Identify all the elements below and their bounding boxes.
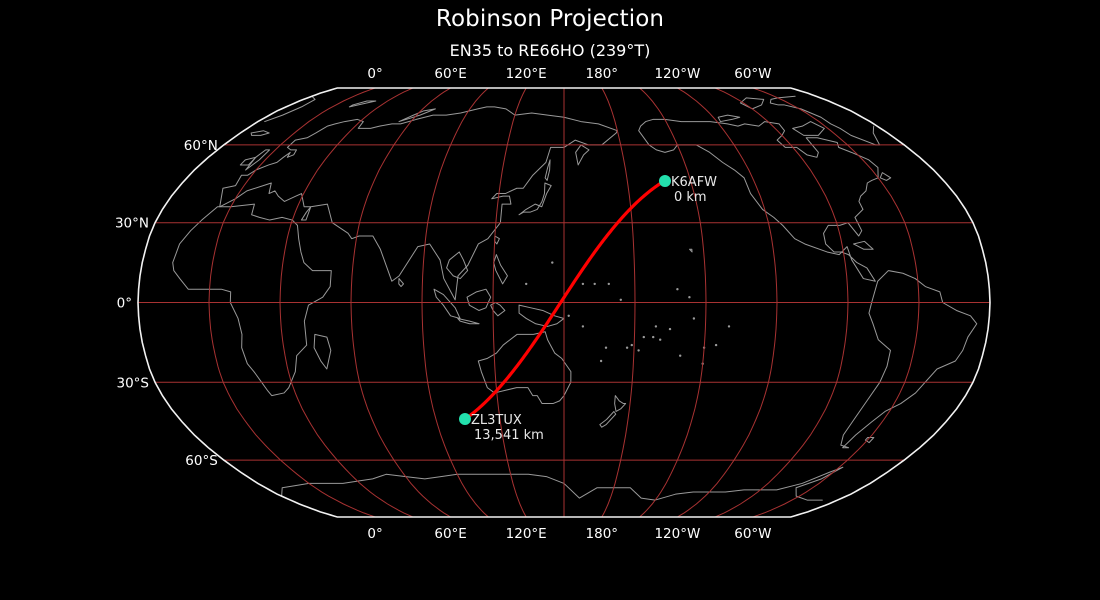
longitude-label-bottom: 120°W: [654, 526, 700, 542]
coastline-segment: [447, 252, 468, 279]
island-dot: [659, 339, 661, 341]
latitude-label: 30°S: [117, 375, 150, 391]
latitude-label: 30°N: [115, 216, 149, 232]
island-dot: [525, 283, 527, 285]
coastline-segment: [478, 332, 571, 404]
island-dot: [582, 325, 584, 327]
endpoint-dot[interactable]: [659, 175, 671, 187]
coastline-segment: [615, 396, 626, 412]
island-dot: [582, 283, 584, 285]
coastline-segment: [458, 318, 479, 323]
longitude-label-top: 180°: [586, 66, 619, 82]
coastline-segment: [718, 115, 740, 121]
island-dot: [600, 360, 602, 362]
island-dot: [652, 336, 654, 338]
longitude-label-top: 120°W: [654, 66, 700, 82]
endpoint-dot[interactable]: [459, 413, 471, 425]
island-dot: [594, 283, 596, 285]
island-dot: [669, 328, 671, 330]
island-dot: [693, 317, 695, 319]
coastline-segment: [246, 150, 270, 170]
coastline-segment: [853, 241, 873, 249]
island-dot: [568, 315, 570, 317]
latitude-label: 0°: [117, 296, 132, 312]
coastline-segment: [690, 249, 693, 252]
coastline-segment: [770, 96, 876, 145]
island-dot: [631, 344, 633, 346]
longitude-label-top: 0°: [367, 66, 382, 82]
endpoint-callsign: K6AFW: [671, 175, 717, 190]
longitude-label-bottom: 120°E: [506, 526, 547, 542]
longitude-label-bottom: 60°E: [434, 526, 466, 542]
island-dot: [637, 349, 639, 351]
coastline-segment: [494, 255, 508, 284]
coastline-segment: [793, 122, 825, 136]
longitude-label-top: 120°E: [506, 66, 547, 82]
robinson-projection-map[interactable]: K6AFW0 kmZL3TUX13,541 km 60°E60°E120°E12…: [0, 0, 1100, 600]
island-dot: [655, 325, 657, 327]
coastline-segment: [265, 96, 315, 121]
longitude-label-bottom: 180°: [586, 526, 619, 542]
endpoint-distance: 0 km: [674, 190, 707, 205]
island-dot: [608, 283, 610, 285]
island-dot: [728, 325, 730, 327]
coastline-segment: [314, 334, 331, 369]
coastline-segment: [841, 271, 977, 448]
island-dot: [620, 299, 622, 301]
island-dot: [605, 347, 607, 349]
longitude-label-bottom: 60°W: [734, 526, 771, 542]
latitude-label: 60°S: [185, 453, 218, 469]
island-dot: [679, 355, 681, 357]
map-viewport: Robinson Projection EN35 to RE66HO (239°…: [0, 0, 1100, 600]
endpoint-callsign: ZL3TUX: [471, 413, 522, 428]
island-dot: [643, 336, 645, 338]
coastline-segment: [576, 145, 589, 165]
island-dot: [715, 344, 717, 346]
coastline-layer: [173, 96, 977, 500]
island-dot: [626, 347, 628, 349]
latitude-label: 60°N: [184, 138, 218, 154]
coastline-segment: [173, 204, 332, 395]
coastline-segment: [349, 101, 375, 107]
island-dot: [676, 288, 678, 290]
island-dot: [551, 261, 553, 263]
endpoint-distance: 13,541 km: [474, 428, 544, 443]
endpoint-marker-zl3tux[interactable]: ZL3TUX13,541 km: [459, 413, 544, 443]
coastline-segment: [873, 126, 879, 145]
longitude-label-bottom: 0°: [367, 526, 382, 542]
coastline-segment: [220, 107, 618, 300]
graticule-layer: [138, 88, 990, 517]
coastline-segment: [614, 467, 843, 500]
longitude-label-top: 60°E: [434, 66, 466, 82]
coastline-segment: [880, 173, 890, 181]
coastline-segment: [251, 131, 269, 136]
coastline-segment: [399, 279, 404, 287]
coastline-segment: [467, 289, 491, 310]
longitude-label-top: 60°W: [734, 66, 771, 82]
endpoint-marker-k6afw[interactable]: K6AFW0 km: [659, 175, 717, 205]
coastline-segment: [600, 411, 616, 427]
island-dot: [688, 296, 690, 298]
